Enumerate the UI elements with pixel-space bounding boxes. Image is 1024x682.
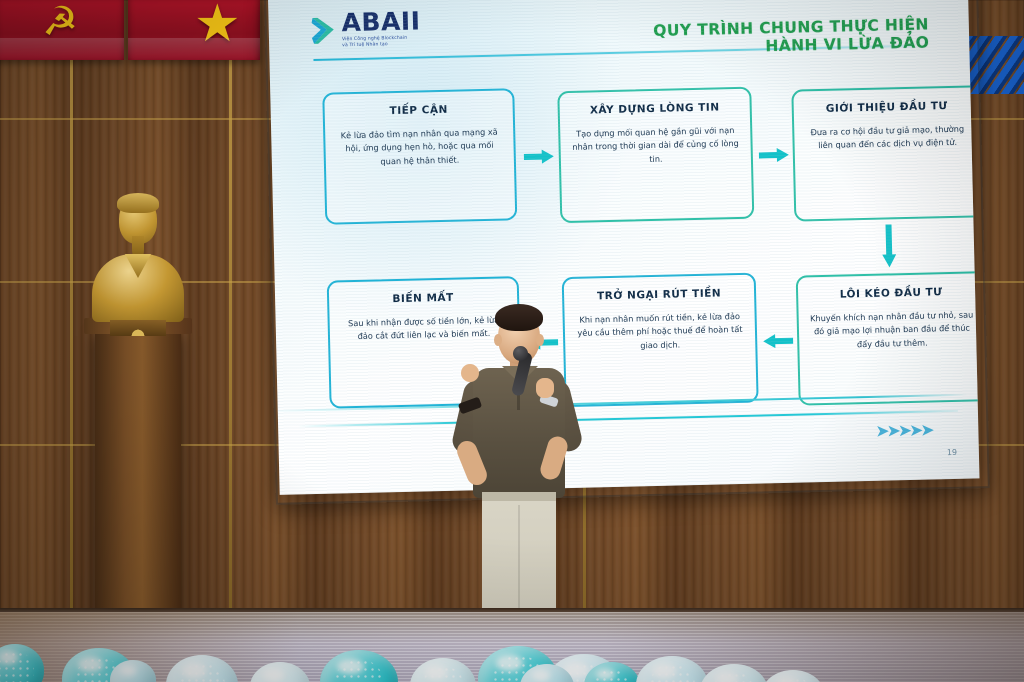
red-banner-star: ★	[128, 0, 260, 60]
arrow-right-1	[524, 148, 554, 168]
box-body: Tạo dựng mối quan hệ gần gũi với nạn nhâ…	[570, 124, 741, 168]
flow-box-gioi-thieu-dau-tu: GIỚI THIỆU ĐẦU TƯ Đưa ra cơ hội đầu tư g…	[791, 85, 979, 221]
arrow-left-4	[763, 333, 793, 353]
flow-box-loi-keo-dau-tu: LÔI KÉO ĐẦU TƯ Khuyến khích nạn nhân đầu…	[796, 271, 980, 405]
logo-subtitle: Viện Công nghệ Blockchain và Trí tuệ Nhâ…	[342, 35, 421, 49]
box-body: Kẻ lừa đảo tìm nạn nhân qua mạng xã hội,…	[335, 125, 504, 169]
arrow-right-2	[759, 147, 789, 167]
wall-seam	[229, 0, 232, 640]
ho-chi-minh-bust	[92, 196, 184, 336]
flow-box-xay-dung-long-tin: XÂY DỰNG LÒNG TIN Tạo dựng mối quan hệ g…	[557, 87, 754, 224]
box-title: TRỞ NGẠI RÚT TIỀN	[574, 287, 744, 303]
slide-title: QUY TRÌNH CHUNG THỰC HIỆN HÀNH VI LỪA ĐẢ…	[599, 15, 930, 59]
chevron-logo-icon	[310, 15, 337, 46]
box-body: Khuyến khích nạn nhân đầu tư nhỏ, sau đó…	[809, 308, 976, 352]
box-body: Đưa ra cơ hội đầu tư giả mạo, thường liê…	[804, 122, 971, 152]
page-number: 19	[947, 448, 957, 457]
footer-rule	[298, 410, 958, 428]
abaii-logo: ABAII Viện Công nghệ Blockchain và Trí t…	[310, 8, 421, 50]
box-title: XÂY DỰNG LÒNG TIN	[570, 101, 740, 117]
flow-box-tiep-can: TIẾP CẬN Kẻ lừa đảo tìm nạn nhân qua mạn…	[322, 88, 517, 224]
conference-hall-photo: ☭ ★ ABAII Viện Công ng	[0, 0, 1024, 682]
box-title: LÔI KÉO ĐẦU TƯ	[808, 285, 974, 301]
hammer-sickle-icon: ☭	[42, 2, 78, 42]
box-title: TIẾP CẬN	[335, 103, 503, 119]
flow-box-tro-ngai-rut-tien: TRỞ NGẠI RÚT TIỀN Khi nạn nhân muốn rút …	[562, 273, 759, 408]
logo-wordmark: ABAII	[341, 8, 420, 35]
projection-screen: ABAII Viện Công nghệ Blockchain và Trí t…	[268, 0, 980, 495]
wall-seam	[70, 0, 73, 640]
red-banner-hammer-sickle: ☭	[0, 0, 124, 60]
box-title: GIỚI THIỆU ĐẦU TƯ	[804, 99, 970, 115]
chevron-decor-icon: ➤➤➤➤➤	[878, 422, 935, 440]
arrow-down-3	[882, 224, 897, 272]
bust-pedestal	[95, 330, 181, 625]
box-body: Khi nạn nhân muốn rút tiền, kẻ lừa đảo y…	[575, 310, 746, 354]
